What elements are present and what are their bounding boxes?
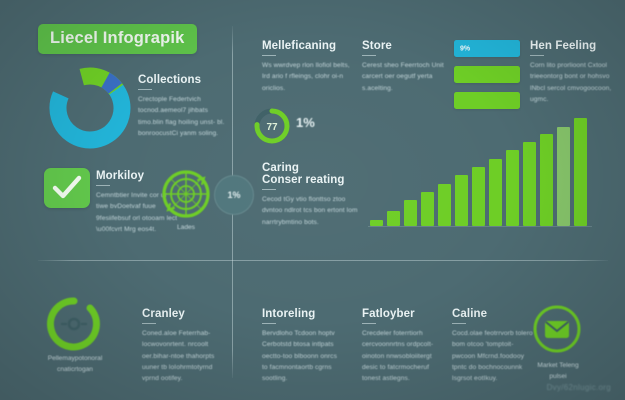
mail-caption-line2: pulsei <box>512 373 604 380</box>
check-rule <box>96 185 110 186</box>
target-icon <box>158 166 214 222</box>
cranley-rule <box>142 323 156 324</box>
column-bar <box>557 127 570 226</box>
arc-caption-line2: cnaticrtogan <box>34 366 116 373</box>
checkmark-card <box>44 168 90 208</box>
hbar-1-label: 9% <box>460 45 470 52</box>
arc-ring-icon <box>44 294 104 352</box>
col-melleficaning: Melleficaning Ws wwrdvep rlon llofiol be… <box>262 40 350 94</box>
col-store-rule <box>362 55 376 56</box>
intoreling-body: Bervdloho Tcdoon hoptv Cerbotstd btosa i… <box>262 328 344 385</box>
intoreling-heading: Intoreling <box>262 308 344 320</box>
caring-rule <box>262 189 276 190</box>
column-bar <box>472 167 485 226</box>
target-caption: Lades <box>158 224 214 231</box>
hbar-2 <box>454 66 520 83</box>
ring-gauge-label: 1% <box>296 115 315 130</box>
column-bar <box>574 118 587 226</box>
donut-heading: Collections <box>138 74 226 86</box>
donut-chart <box>46 64 134 152</box>
col-melleficaning-rule <box>262 55 276 56</box>
caring-heading-line1: Caring <box>262 162 362 174</box>
ring-gauge-77: 77 <box>252 106 292 146</box>
page-title: Liecel Infograpik <box>38 24 197 54</box>
column-bar <box>404 200 417 226</box>
col-melleficaning-body: Ws wwrdvep rlon llofiol belts, Ird ario … <box>262 60 350 94</box>
cranley-heading: Cranley <box>142 308 226 320</box>
cranley-body: Coned.aloe Feterrhab- locwovonrtent. nrc… <box>142 328 226 385</box>
horizontal-divider <box>38 260 608 261</box>
bottom-cranley: Cranley Coned.aloe Feterrhab- locwovonrt… <box>142 308 226 385</box>
col-melleficaning-heading: Melleficaning <box>262 40 350 52</box>
checkmark-icon <box>51 174 83 202</box>
chart-baseline <box>368 226 592 227</box>
caring-text-block: Caring Conser reating Cecod tGy vtio flo… <box>262 162 362 228</box>
hbars-rule <box>530 55 544 56</box>
intoreling-rule <box>262 323 276 324</box>
column-bar <box>506 150 519 226</box>
mail-circle-icon <box>528 300 586 358</box>
column-bar <box>421 192 434 226</box>
caline-heading: Caline <box>452 308 534 320</box>
column-bar <box>489 159 502 226</box>
donut-body: Crectople Federtvich tocnod.aemeol7 jihb… <box>138 94 226 139</box>
watermark: Dvy/62nlugic.org <box>547 383 611 392</box>
caring-body: Cecod tGy vtio flonttso ztoo dvntoo ndlr… <box>262 194 362 228</box>
column-bar-chart <box>370 118 590 226</box>
donut-text-block: Collections Crectople Federtvich tocnod.… <box>138 74 226 139</box>
infographic-canvas: Liecel Infograpik Collections Crectople … <box>0 0 625 400</box>
column-bar <box>387 211 400 226</box>
svg-text:77: 77 <box>266 122 278 133</box>
divider-percent-badge: 1% <box>214 175 254 215</box>
fatloyber-body: Crecdeler foterrtiorh cercvoonnrtns ordp… <box>362 328 444 385</box>
col-store: Store Cerest sheo Feerrtoch Unit carcert… <box>362 40 446 94</box>
caring-heading-line2: Conser reating <box>262 174 362 186</box>
donut-rule <box>138 89 152 90</box>
col-store-body: Cerest sheo Feerrtoch Unit carcert oer o… <box>362 60 446 94</box>
bottom-fatloyber: Fatloyber Crecdeler foterrtiorh cercvoon… <box>362 308 444 385</box>
hbars-body: Corn lito prorlioont Cxtool trieeontorg … <box>530 60 612 105</box>
hbar-3 <box>454 92 520 109</box>
column-bar <box>523 142 536 226</box>
mail-caption-line1: Market Teleng <box>512 362 604 369</box>
fatloyber-heading: Fatloyber <box>362 308 444 320</box>
column-bar <box>540 134 553 226</box>
col-store-heading: Store <box>362 40 446 52</box>
arc-caption-line1: Pellemaypotonoral <box>34 355 116 362</box>
column-bar <box>455 175 468 226</box>
column-bar <box>370 220 383 226</box>
caline-rule <box>452 323 466 324</box>
column-bar <box>438 184 451 226</box>
fatloyber-rule <box>362 323 376 324</box>
hbar-1: 9% <box>454 40 520 57</box>
hbars-heading: Hen Feeling <box>530 40 612 52</box>
bottom-intoreling: Intoreling Bervdloho Tcdoon hoptv Cerbot… <box>262 308 344 385</box>
hbars-text-block: Hen Feeling Corn lito prorlioont Cxtool … <box>530 40 612 105</box>
